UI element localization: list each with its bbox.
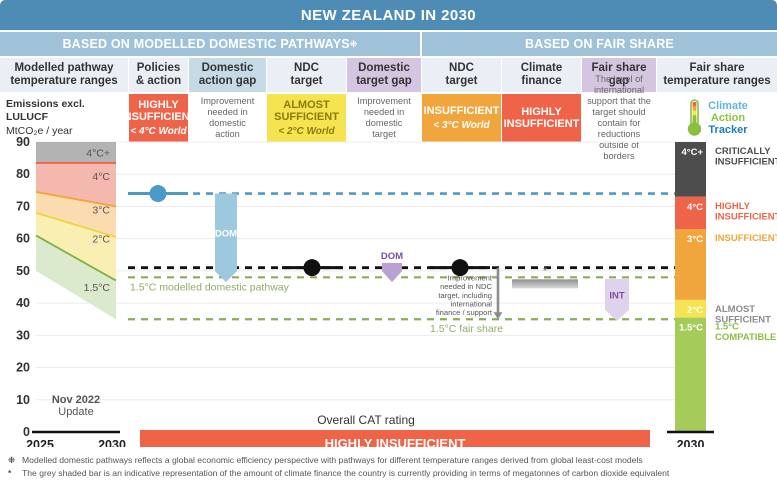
fairshare-band-label: 1.5°C: [679, 323, 703, 334]
y-axis-tick-label: 40: [16, 296, 30, 310]
overall-rating-value: HIGHLY INSUFFICIENT: [325, 436, 466, 447]
axis-unit-text: MtCO₂e / year: [6, 125, 73, 137]
gap-description: Improvementneeded indomesticaction: [201, 96, 255, 140]
rating-label: INSUFFICIENT: [424, 105, 500, 117]
col-header-label: NDCtarget: [446, 62, 478, 88]
x-axis-tick-2030: 2030: [98, 438, 126, 447]
footnotes: ⁜ Modelled domestic pathways reflects a …: [0, 454, 777, 481]
domestic-target-gap-arrow: [382, 263, 402, 282]
domestic-target-gap-arrow-label: DOM: [381, 251, 403, 262]
rating-world: < 2°C World: [278, 126, 334, 137]
fairshare-rating-label: INSUFFICIENT: [715, 233, 777, 244]
footnote-marker: ⁜: [8, 454, 15, 467]
band-label: 4°C: [92, 171, 110, 183]
gap-description: Improvementneeded indomestictarget: [357, 96, 411, 140]
col-header-label: Domestictarget gap: [356, 62, 412, 88]
fairshare-band-label: 4°C: [687, 202, 703, 213]
dagger-icon: ⁜: [350, 39, 358, 50]
cat-logo-line1: Climate: [708, 100, 748, 112]
footnote-item: ⁜ Modelled domestic pathways reflects a …: [0, 454, 777, 467]
rating-domestic-action-gap: Improvementneeded indomesticaction: [189, 94, 266, 142]
footnote-text: Modelled domestic pathways reflects a gl…: [22, 454, 643, 467]
y-axis-tick-label: 30: [16, 328, 30, 342]
fairshare-rating-label: COMPATIBLE: [715, 332, 776, 343]
col-header-climate-finance: Climatefinance: [502, 58, 581, 92]
column-header-row: Modelled pathwaytemperature ranges Polic…: [0, 58, 777, 92]
rating-world: < 3°C World: [433, 120, 489, 131]
modelled-pathway-label: 1.5°C modelled domestic pathway: [130, 281, 290, 293]
col-header-ndc-target-fairshare: NDCtarget: [422, 58, 501, 92]
col-header-domestic-target-gap: Domestictarget gap: [347, 58, 421, 92]
footnote-text: The grey shaded bar is an indicative rep…: [22, 467, 669, 480]
rating-domestic-target-gap: Improvementneeded indomestictarget: [347, 94, 421, 142]
col-header-modelled-pathway-temperature-ranges: Modelled pathwaytemperature ranges: [0, 58, 128, 92]
y-axis-tick-label: 80: [16, 167, 30, 181]
banner-fair-share: BASED ON FAIR SHARE: [422, 32, 777, 56]
y-axis-tick-label: 0: [23, 425, 30, 439]
y-axis-tick-label: 70: [16, 199, 30, 213]
axis-title-cell: Emissions excl. LULUCF MtCO₂e / year: [0, 94, 128, 142]
rating-policies-action[interactable]: HIGHLYINSUFFICIENT < 4°C World: [129, 94, 188, 142]
rating-row: Emissions excl. LULUCF MtCO₂e / year HIG…: [0, 94, 777, 142]
x-axis-tick-2025: 2025: [26, 438, 54, 447]
fairshare-band-label: 2°C: [687, 305, 703, 316]
page-title-text: NEW ZEALAND IN 2030: [301, 7, 476, 24]
banner-left-label: BASED ON MODELLED DOMESTIC PATHWAYS: [62, 37, 349, 51]
y-axis-tick-label: 60: [16, 232, 30, 246]
banner-right-label: BASED ON FAIR SHARE: [525, 37, 674, 51]
climate-action-tracker-logo: Climate Action Tracker: [686, 98, 748, 138]
fairshare-rating-label: CRITICALLY: [715, 146, 771, 157]
y-axis-tick-label: 20: [16, 361, 30, 375]
fairshare-band-label: 3°C: [687, 234, 703, 245]
band-label: 4°C+: [86, 147, 110, 159]
fairshare-rating-label: 1.5°C: [715, 322, 739, 333]
rating-world: < 4°C World: [130, 126, 186, 137]
y-axis-tick-label: 90: [16, 137, 30, 149]
overall-rating-title: Overall CAT rating: [317, 413, 415, 427]
cat-logo-wordmark: Climate Action Tracker: [708, 100, 748, 137]
y-axis-tick-label: 50: [16, 264, 30, 278]
band-label: 1.5°C: [84, 282, 111, 294]
rating-label: HIGHLYINSUFFICIENT: [504, 106, 580, 131]
col-header-label: Modelled pathwaytemperature ranges: [10, 62, 117, 88]
ndc-target-domestic-marker-dot[interactable]: [304, 259, 321, 276]
chart-canvas: 01020304050607080904°C+4°C3°C2°C1.5°C202…: [0, 137, 777, 447]
climate-finance-bar: [512, 279, 578, 288]
fairshare-rating-label: INSUFFICIENT: [715, 157, 777, 168]
fair-share-label: 1.5°C fair share: [430, 323, 503, 335]
fair-share-improvement-annotation: finance / support: [436, 308, 493, 317]
y-axis-tick-label: 10: [16, 393, 30, 407]
col-header-label: Domesticaction gap: [199, 62, 257, 88]
fair-share-gap-arrow-label: INT: [609, 290, 625, 301]
right-x-axis-tick: 2030: [677, 438, 705, 447]
band-label: 2°C: [92, 234, 110, 246]
rating-ndc-target-fairshare[interactable]: INSUFFICIENT < 3°C World: [422, 94, 501, 142]
page-title: NEW ZEALAND IN 2030: [0, 0, 777, 30]
emissions-pathway-chart: 01020304050607080904°C+4°C3°C2°C1.5°C202…: [0, 137, 777, 447]
footnote-item: * The grey shaded bar is an indicative r…: [0, 467, 777, 480]
band-label: 3°C: [92, 205, 110, 217]
cat-logo-line2: Action: [708, 112, 748, 124]
rating-ndc-target-domestic[interactable]: ALMOSTSUFFICIENT < 2°C World: [267, 94, 346, 142]
update-note: Update: [58, 406, 93, 418]
rating-label: HIGHLYINSUFFICIENT: [121, 99, 197, 124]
col-header-fair-share-temperature-ranges: Fair sharetemperature ranges: [657, 58, 777, 92]
col-header-ndc-target-domestic: NDCtarget: [267, 58, 346, 92]
rating-label: ALMOSTSUFFICIENT: [274, 99, 339, 124]
col-header-policies-action: Policies& action: [129, 58, 188, 92]
fairshare-band-label: 4°C+: [682, 147, 704, 158]
policies-action-marker-dot[interactable]: [150, 185, 167, 202]
update-note: Nov 2022: [52, 394, 100, 406]
fairshare-band-1.5°C: [675, 318, 706, 432]
domestic-action-gap-arrow-label: DOM: [215, 228, 237, 239]
fairshare-rating-label: ALMOST: [715, 304, 755, 315]
footnote-marker: *: [8, 467, 11, 480]
climate-finance-asterisk: *: [543, 265, 548, 277]
cat-logo-line3: Tracker: [708, 124, 748, 136]
fairshare-rating-label: HIGHLY: [715, 201, 751, 212]
col-header-label: Climatefinance: [521, 62, 563, 88]
banner-row: BASED ON MODELLED DOMESTIC PATHWAYS⁜ BAS…: [0, 32, 777, 56]
col-header-label: NDCtarget: [291, 62, 323, 88]
rating-fair-share-gap: The level ofinternationalsupport that th…: [582, 94, 656, 142]
col-header-label: Fair sharetemperature ranges: [663, 62, 770, 88]
banner-modelled-domestic-pathways: BASED ON MODELLED DOMESTIC PATHWAYS⁜: [0, 32, 420, 56]
axis-title: Emissions excl. LULUCF MtCO₂e / year: [0, 98, 128, 139]
col-header-label: Policies& action: [136, 62, 181, 88]
cat-logo-cell: Climate Action Tracker: [657, 94, 777, 142]
col-header-domestic-action-gap: Domesticaction gap: [189, 58, 266, 92]
fairshare-rating-label: INSUFFICIENT: [715, 211, 777, 222]
axis-title-text: Emissions excl. LULUCF: [6, 98, 85, 124]
thermometer-icon: [686, 98, 703, 138]
rating-climate-finance[interactable]: HIGHLYINSUFFICIENT: [502, 94, 581, 142]
